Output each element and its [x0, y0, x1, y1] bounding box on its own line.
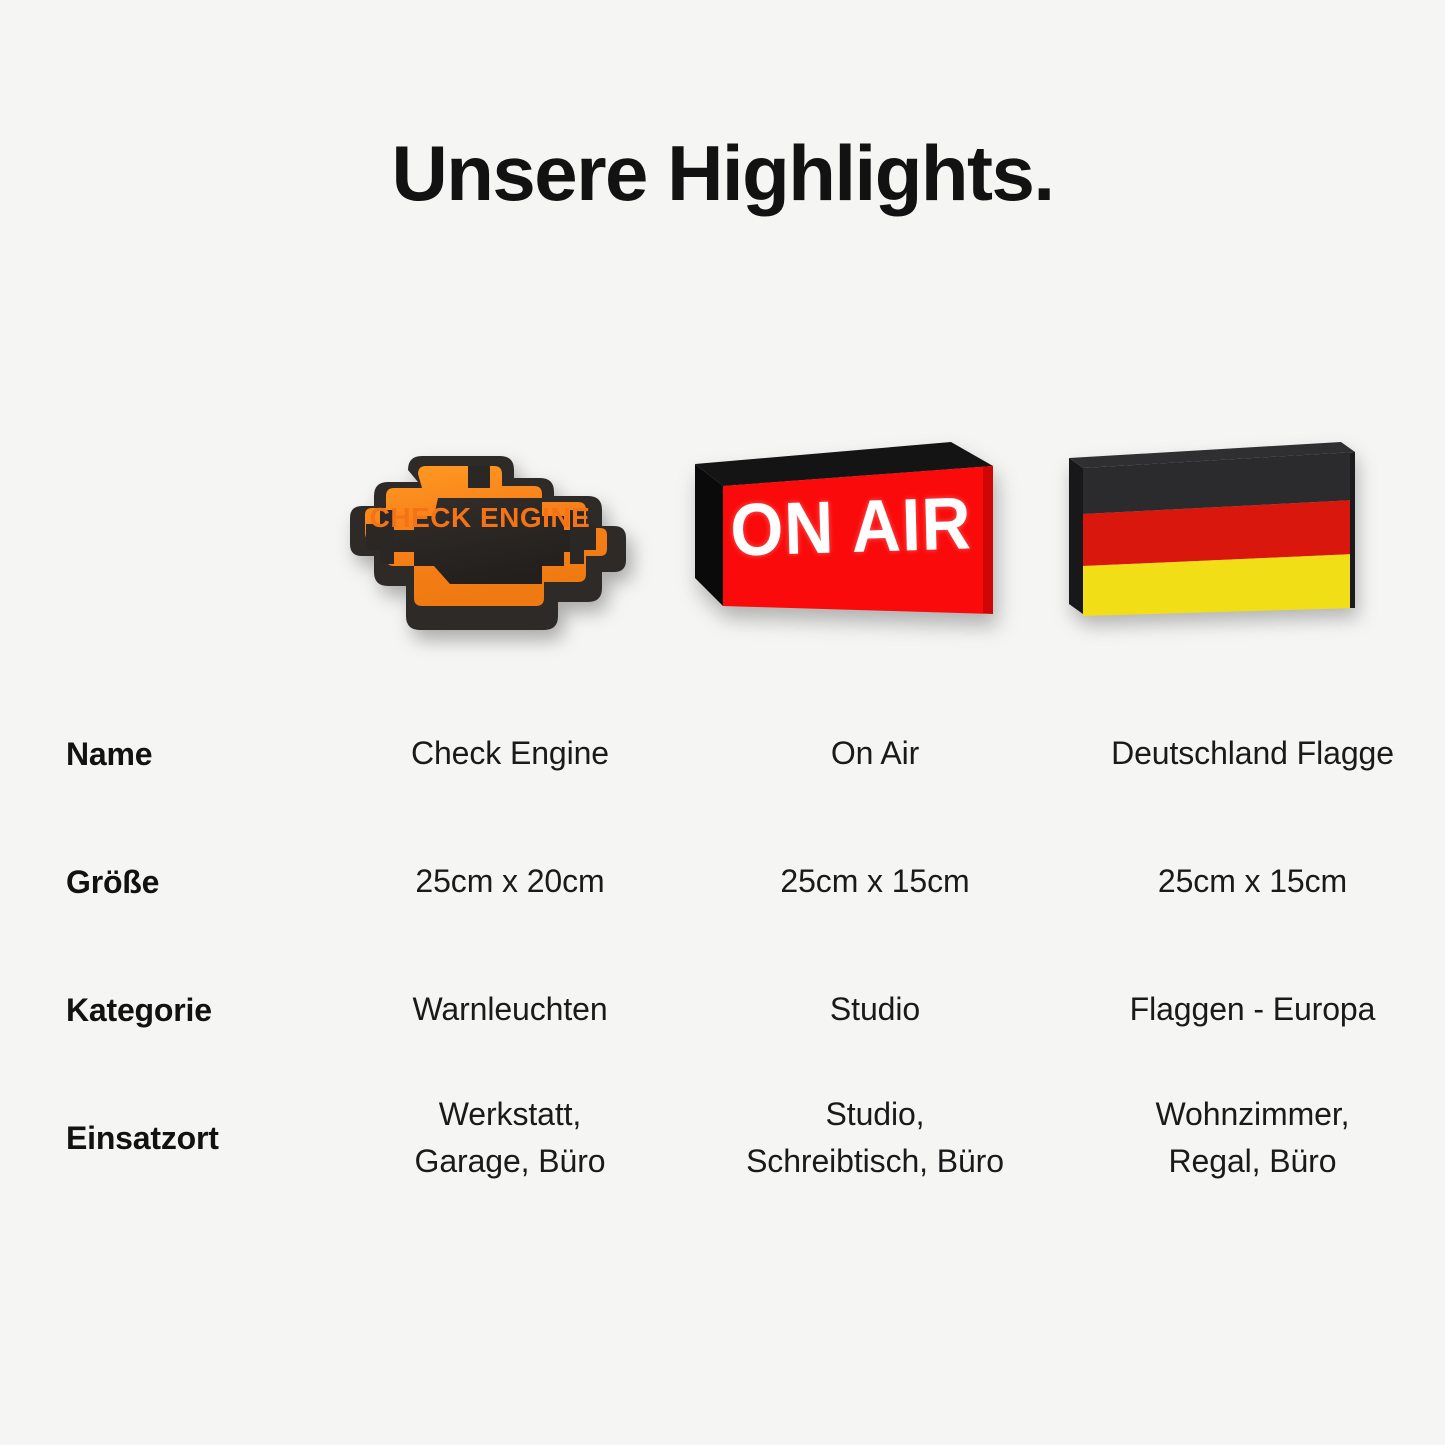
cell-groesse-check-engine: 25cm x 20cm	[330, 858, 690, 905]
cell-name-check-engine: Check Engine	[330, 730, 690, 777]
product-image-on-air[interactable]: ON AIR	[665, 400, 1020, 670]
on-air-lightbox-icon: ON AIR	[683, 428, 1003, 643]
cell-groesse-deutschland-flagge: 25cm x 15cm	[1060, 858, 1445, 905]
cell-einsatzort-check-engine: Werkstatt, Garage, Büro	[330, 1091, 690, 1186]
cell-name-on-air: On Air	[690, 730, 1060, 777]
cell-kategorie-check-engine: Warnleuchten	[330, 986, 690, 1033]
table-row: Einsatzort Werkstatt, Garage, Büro Studi…	[0, 1074, 1445, 1202]
product-image-deutschland-flagge[interactable]	[1025, 400, 1395, 670]
table-row: Name Check Engine On Air Deutschland Fla…	[0, 690, 1445, 818]
table-row: Kategorie Warnleuchten Studio Flaggen - …	[0, 946, 1445, 1074]
row-label-einsatzort: Einsatzort	[0, 1120, 330, 1157]
deutschland-flagge-lightbox-icon	[1055, 428, 1365, 643]
row-label-kategorie: Kategorie	[0, 992, 330, 1029]
table-row: Größe 25cm x 20cm 25cm x 15cm 25cm x 15c…	[0, 818, 1445, 946]
cell-kategorie-on-air: Studio	[690, 986, 1060, 1033]
product-image-check-engine[interactable]: CHECK ENGINE	[290, 400, 670, 670]
cell-einsatzort-deutschland-flagge: Wohnzimmer, Regal, Büro	[1060, 1091, 1445, 1186]
row-label-groesse: Größe	[0, 864, 330, 901]
cell-name-deutschland-flagge: Deutschland Flagge	[1060, 730, 1445, 777]
cell-groesse-on-air: 25cm x 15cm	[690, 858, 1060, 905]
page-title: Unsere Highlights.	[0, 131, 1445, 217]
check-engine-lightbox-icon: CHECK ENGINE	[320, 420, 640, 650]
spec-table: Name Check Engine On Air Deutschland Fla…	[0, 690, 1445, 1202]
product-image-strip: CHECK ENGINE ON AIR	[0, 400, 1445, 670]
row-label-name: Name	[0, 736, 330, 773]
cell-einsatzort-on-air: Studio, Schreibtisch, Büro	[690, 1091, 1060, 1186]
cell-kategorie-deutschland-flagge: Flaggen - Europa	[1060, 986, 1445, 1033]
